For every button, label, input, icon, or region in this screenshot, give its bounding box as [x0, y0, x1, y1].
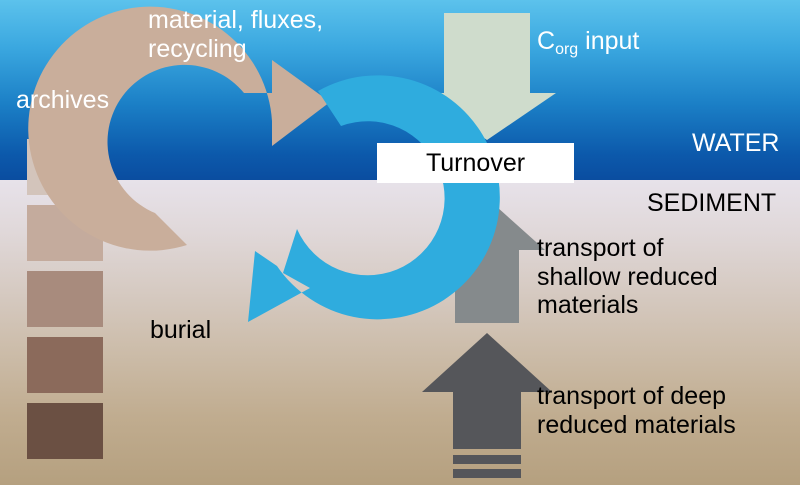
deep-transport-arrow-band — [453, 469, 521, 478]
label-burial: burial — [150, 316, 211, 345]
label-water-zone: WATER — [692, 129, 780, 158]
turnover-box: Turnover — [377, 143, 574, 183]
label-transport-deep: transport of deep reduced materials — [537, 382, 736, 439]
deep-transport-arrow — [422, 333, 552, 449]
label-material-fluxes: material, fluxes, recycling — [148, 6, 323, 63]
label-sediment-zone: SEDIMENT — [647, 189, 776, 218]
corg-rest: input — [578, 27, 639, 55]
corg-subscript: org — [555, 41, 578, 58]
turnover-label: Turnover — [377, 143, 574, 183]
diagram-canvas: material, fluxes, recycling archives Cor… — [0, 0, 800, 485]
label-transport-shallow: transport of shallow reduced materials — [537, 234, 718, 320]
label-corg-input: Corg input — [537, 27, 639, 56]
deep-transport-arrow-band — [453, 455, 521, 464]
corg-symbol: C — [537, 27, 555, 55]
label-archives: archives — [16, 86, 109, 115]
